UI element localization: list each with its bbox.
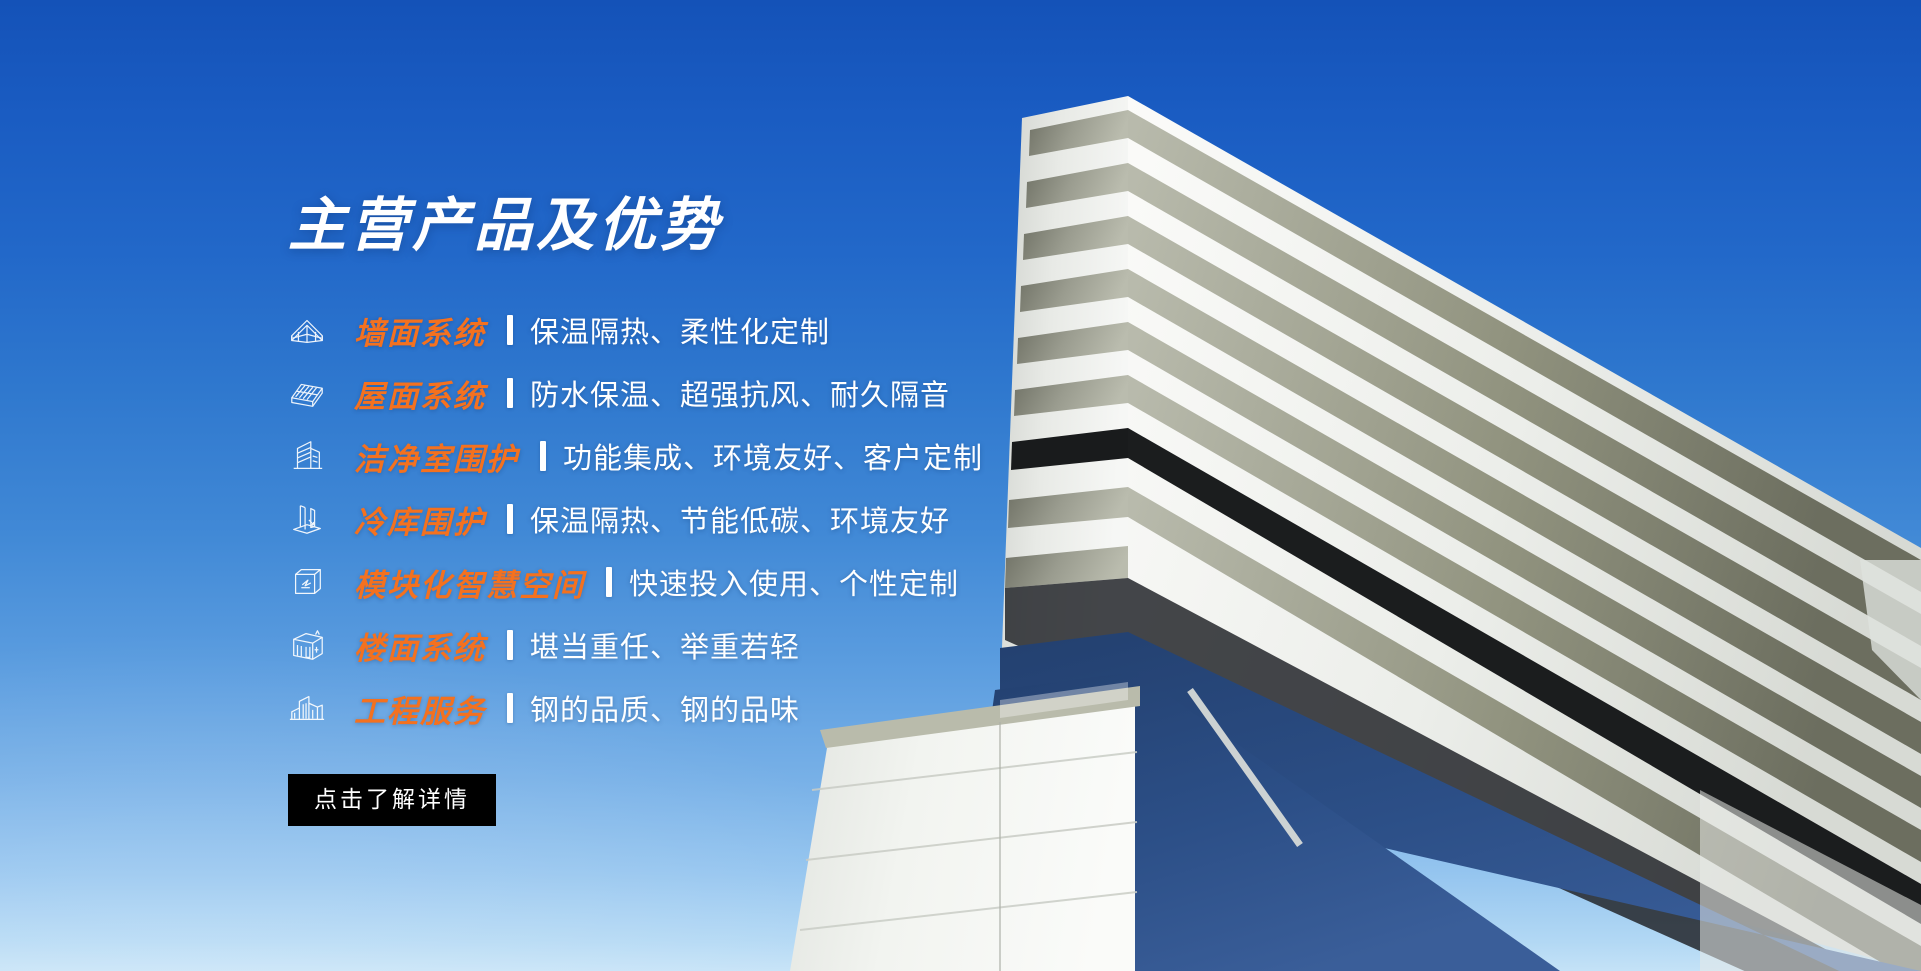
feature-description: 保温隔热、柔性化定制 bbox=[530, 309, 830, 351]
feature-name: 洁净室围护 bbox=[354, 434, 519, 479]
feature-row[interactable]: 楼面系统 堪当重任、举重若轻 bbox=[288, 614, 1388, 677]
feature-row[interactable]: 屋面系统 防水保温、超强抗风、耐久隔音 bbox=[288, 362, 1388, 425]
feature-description: 防水保温、超强抗风、耐久隔音 bbox=[530, 372, 950, 414]
learn-more-button[interactable]: 点击了解详情 bbox=[288, 774, 496, 826]
separator-bar bbox=[507, 630, 513, 660]
feature-name: 楼面系统 bbox=[354, 623, 486, 668]
feature-name: 屋面系统 bbox=[354, 371, 486, 416]
product-advantage-banner: 主营产品及优势 墙面系统 保温隔热、柔性化定制 bbox=[0, 0, 1921, 971]
feature-row[interactable]: 洁净室围护 功能集成、环境友好、客户定制 bbox=[288, 425, 1388, 488]
feature-description: 功能集成、环境友好、客户定制 bbox=[563, 435, 983, 477]
separator-bar bbox=[507, 693, 513, 723]
roof-panel-icon bbox=[288, 374, 354, 412]
feature-description: 堪当重任、举重若轻 bbox=[530, 624, 800, 666]
feature-description: 快速投入使用、个性定制 bbox=[629, 561, 959, 603]
feature-description: 保温隔热、节能低碳、环境友好 bbox=[530, 498, 950, 540]
cold-storage-icon bbox=[288, 500, 354, 538]
page-title: 主营产品及优势 bbox=[288, 196, 1388, 257]
feature-list: 墙面系统 保温隔热、柔性化定制 屋面系统 防水保温、超强抗风、 bbox=[288, 299, 1388, 740]
banner-content: 主营产品及优势 墙面系统 保温隔热、柔性化定制 bbox=[288, 196, 1388, 826]
cleanroom-building-icon bbox=[288, 437, 354, 475]
feature-description: 钢的品质、钢的品味 bbox=[530, 687, 800, 729]
modular-cube-icon bbox=[288, 563, 354, 601]
feature-name: 墙面系统 bbox=[354, 308, 486, 353]
feature-name: 工程服务 bbox=[354, 686, 486, 731]
feature-row[interactable]: 模块化智慧空间 快速投入使用、个性定制 bbox=[288, 551, 1388, 614]
wall-panel-icon bbox=[288, 311, 354, 349]
separator-bar bbox=[507, 378, 513, 408]
feature-row[interactable]: 墙面系统 保温隔热、柔性化定制 bbox=[288, 299, 1388, 362]
feature-row[interactable]: 工程服务 钢的品质、钢的品味 bbox=[288, 677, 1388, 740]
feature-row[interactable]: 冷库围护 保温隔热、节能低碳、环境友好 bbox=[288, 488, 1388, 551]
engineering-buildings-icon bbox=[288, 689, 354, 727]
separator-bar bbox=[540, 441, 546, 471]
feature-name: 模块化智慧空间 bbox=[354, 560, 585, 605]
feature-name: 冷库围护 bbox=[354, 497, 486, 542]
floor-deck-icon bbox=[288, 626, 354, 664]
separator-bar bbox=[606, 567, 612, 597]
separator-bar bbox=[507, 315, 513, 345]
separator-bar bbox=[507, 504, 513, 534]
